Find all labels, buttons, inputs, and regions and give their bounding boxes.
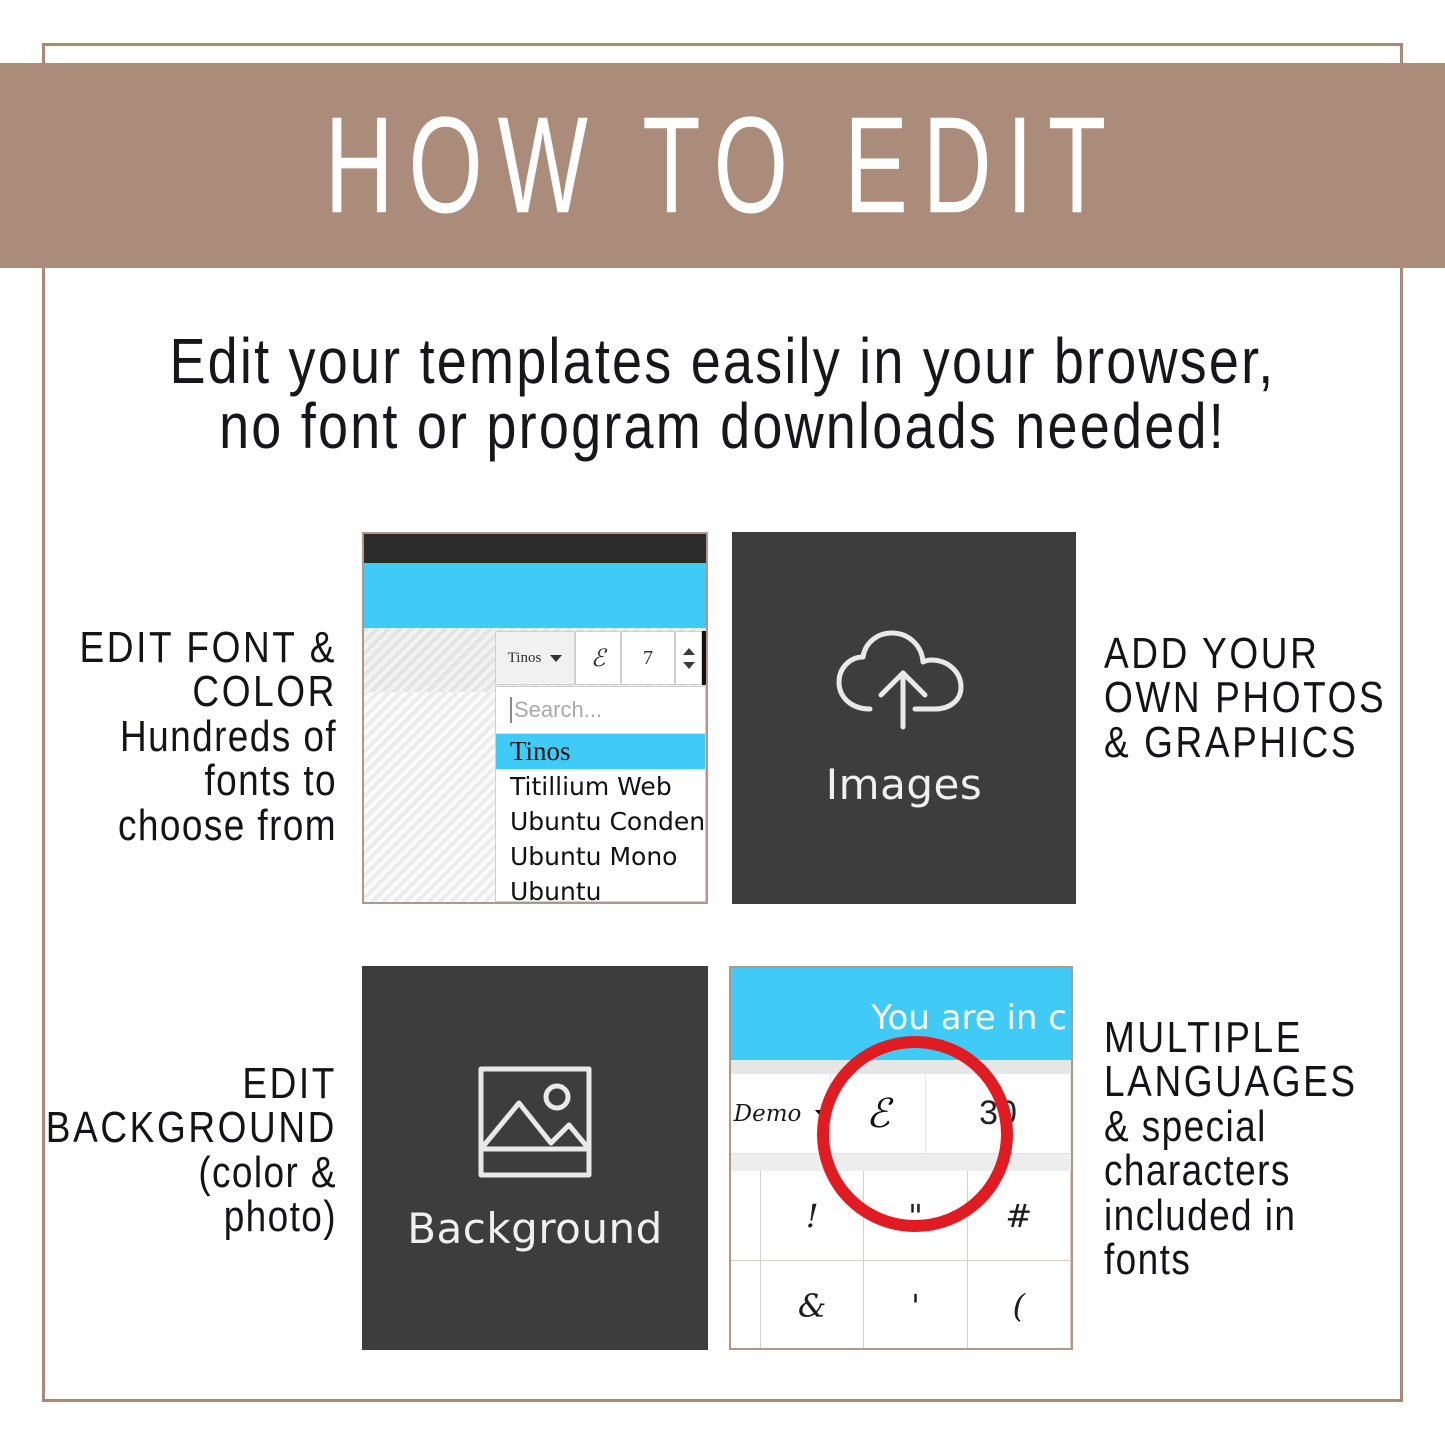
font-style-preview[interactable]: ℰ: [575, 631, 621, 685]
page-title: HOW TO EDIT: [324, 97, 1120, 234]
app-canvas: Tinos ℰ 7 Search...: [364, 628, 706, 902]
background-label: Background: [407, 1204, 663, 1253]
font-family-dropdown[interactable]: Tinos: [495, 631, 575, 685]
app-title-bar: [364, 534, 706, 563]
font-size-value: 7: [643, 647, 653, 670]
screenshot-character-map: You are in c Demo ℰ 30 ! " # & ' (: [729, 966, 1073, 1350]
chevron-down-icon: [815, 1110, 827, 1117]
font-search-input[interactable]: Search...: [496, 687, 705, 734]
char-font-size-value: 30: [979, 1094, 1017, 1133]
char-font-family-value: Demo: [734, 1101, 802, 1127]
color-swatch-button[interactable]: [702, 631, 708, 685]
poster-root: HOW TO EDIT Edit your templates easily i…: [0, 0, 1445, 1445]
screenshot-background-button: Background: [362, 966, 708, 1350]
char-cell[interactable]: [731, 1261, 761, 1350]
caption-line: fonts: [1104, 1234, 1434, 1286]
char-cell[interactable]: ": [864, 1171, 967, 1261]
chevron-down-icon: [550, 655, 562, 662]
app-blue-header: [364, 563, 706, 628]
font-size-input[interactable]: 7: [621, 631, 675, 685]
caption-edit-background: EDIT BACKGROUND (color & photo): [7, 1058, 337, 1236]
script-a-icon: ℰ: [866, 1091, 890, 1137]
caption-multiple-languages: MULTIPLE LANGUAGES & special characters …: [1104, 1012, 1434, 1278]
stepper-up-icon[interactable]: [683, 648, 695, 655]
cloud-upload-icon: [829, 627, 979, 742]
font-list-item[interactable]: Tinos: [496, 734, 705, 769]
subtitle: Edit your templates easily in your brows…: [80, 330, 1365, 460]
text-toolbar: Tinos ℰ 7: [495, 631, 708, 685]
script-a-icon: ℰ: [591, 644, 606, 672]
header-banner: HOW TO EDIT: [0, 63, 1445, 268]
font-list-item[interactable]: Ubuntu: [496, 874, 705, 904]
char-text-toolbar: Demo ℰ 30: [731, 1074, 1071, 1154]
font-size-stepper[interactable]: [675, 631, 702, 685]
char-cell[interactable]: ': [864, 1261, 967, 1350]
char-cell[interactable]: #: [968, 1171, 1071, 1261]
text-caret: [510, 697, 512, 723]
caption-line: photo): [7, 1191, 337, 1243]
subtitle-line-1: Edit your templates easily in your brows…: [80, 330, 1365, 395]
font-list-item[interactable]: Titillium Web: [496, 769, 705, 804]
char-font-family-dropdown[interactable]: Demo: [731, 1074, 831, 1153]
char-font-size-input[interactable]: 30: [926, 1074, 1071, 1153]
font-list: Tinos Titillium Web Ubuntu Condensed Ubu…: [496, 734, 705, 904]
subtitle-line-2: no font or program downloads needed!: [80, 395, 1365, 460]
images-label: Images: [826, 760, 982, 809]
char-style-preview[interactable]: ℰ: [831, 1074, 926, 1153]
stepper-down-icon[interactable]: [683, 662, 695, 669]
char-cell[interactable]: &: [761, 1261, 864, 1350]
font-family-value: Tinos: [508, 650, 542, 667]
char-cell[interactable]: [731, 1171, 761, 1261]
screenshot-font-picker: Tinos ℰ 7 Search...: [362, 532, 708, 904]
char-app-blue-header: You are in c: [731, 968, 1071, 1060]
images-tile[interactable]: Images: [734, 534, 1074, 902]
background-tile[interactable]: Background: [364, 968, 706, 1348]
caption-edit-font-color: EDIT FONT & COLOR Hundreds of fonts to c…: [7, 622, 337, 844]
char-cell[interactable]: (: [968, 1261, 1071, 1350]
character-grid: ! " # & ' (: [731, 1171, 1071, 1350]
font-list-dropdown: Search... Tinos Titillium Web Ubuntu Con…: [495, 686, 706, 902]
char-banner-text: You are in c: [871, 998, 1067, 1038]
picture-icon: [475, 1063, 595, 1186]
caption-add-photos: ADD YOUR OWN PHOTOS & GRAPHICS: [1104, 628, 1434, 761]
char-cell[interactable]: !: [761, 1171, 864, 1261]
font-search-placeholder: Search...: [514, 697, 602, 723]
caption-line: choose from: [7, 800, 337, 852]
font-list-item[interactable]: Ubuntu Mono: [496, 839, 705, 874]
char-grid-header: [731, 1154, 1071, 1171]
char-toolbar-gap: [731, 1060, 1071, 1074]
screenshot-images-button: Images: [732, 532, 1076, 904]
font-list-item[interactable]: Ubuntu Condensed: [496, 804, 705, 839]
caption-line: & GRAPHICS: [1104, 717, 1434, 769]
